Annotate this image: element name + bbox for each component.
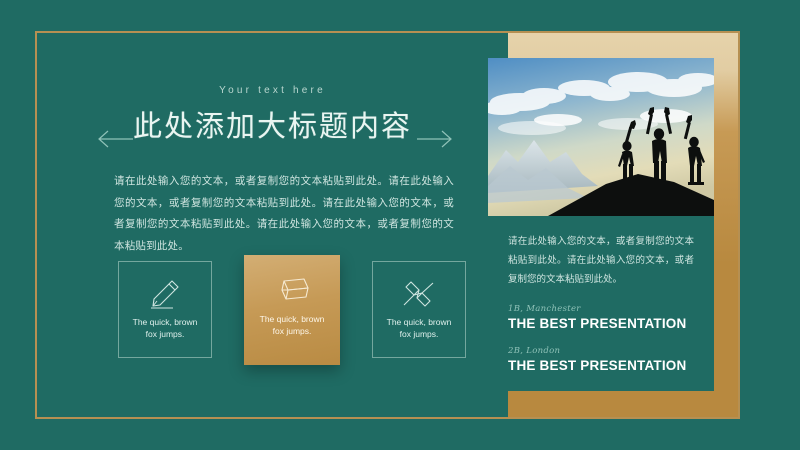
hero-photo bbox=[488, 58, 714, 216]
arrow-left-icon[interactable] bbox=[95, 128, 135, 150]
entry-title: THE BEST PRESENTATION bbox=[508, 358, 708, 373]
feature-card-label: The quick, brown fox jumps. bbox=[253, 313, 331, 338]
entry-subtitle: 1B, Manchester bbox=[508, 304, 708, 314]
left-content-panel: Your text here 此处添加大标题内容 请在此处输入您的文本，或者复制… bbox=[37, 33, 508, 417]
right-paragraph: 请在此处输入您的文本，或者复制您的文本粘贴到此处。请在此处输入您的文本，或者复制… bbox=[508, 232, 694, 289]
entry-item-2: 2B, London THE BEST PRESENTATION bbox=[508, 346, 708, 373]
entry-item-1: 1B, Manchester THE BEST PRESENTATION bbox=[508, 304, 708, 331]
slide-canvas: Your text here 此处添加大标题内容 请在此处输入您的文本，或者复制… bbox=[0, 0, 800, 450]
eyebrow-text: Your text here bbox=[37, 85, 508, 96]
feature-card-2[interactable]: The quick, brown fox jumps. bbox=[244, 255, 340, 365]
feature-card-3[interactable]: The quick, brown fox jumps. bbox=[372, 261, 466, 358]
right-content-panel: 请在此处输入您的文本，或者复制您的文本粘贴到此处。请在此处输入您的文本，或者复制… bbox=[488, 216, 714, 391]
entry-subtitle: 2B, London bbox=[508, 346, 708, 356]
pen-icon bbox=[148, 276, 182, 310]
pushpin-icon bbox=[402, 276, 436, 310]
arrow-right-icon[interactable] bbox=[415, 128, 455, 150]
eraser-icon bbox=[273, 273, 311, 307]
feature-card-label: The quick, brown fox jumps. bbox=[126, 316, 204, 341]
feature-card-1[interactable]: The quick, brown fox jumps. bbox=[118, 261, 212, 358]
feature-card-label: The quick, brown fox jumps. bbox=[380, 316, 458, 341]
body-paragraph: 请在此处输入您的文本，或者复制您的文本粘贴到此处。请在此处输入您的文本，或者复制… bbox=[114, 171, 454, 257]
entry-title: THE BEST PRESENTATION bbox=[508, 316, 708, 331]
feature-card-list: The quick, brown fox jumps. The quick, b… bbox=[118, 261, 466, 361]
